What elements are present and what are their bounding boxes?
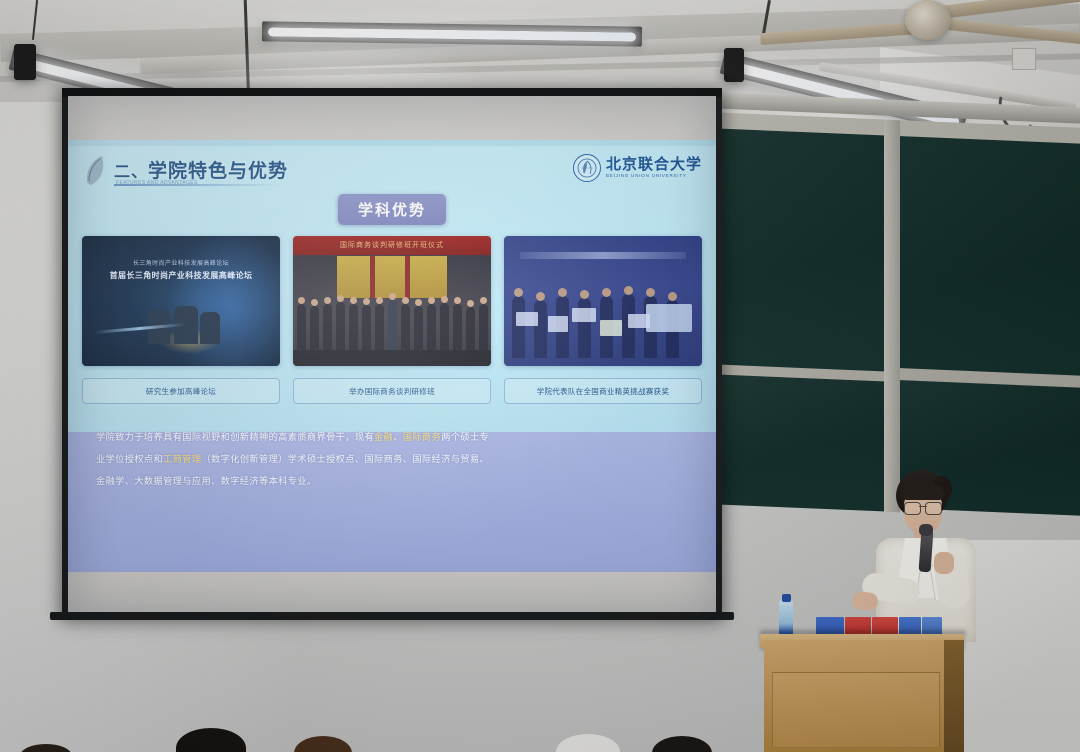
water-bottle-cap (782, 594, 791, 602)
slide-body-text: 学院致力于培养具有国际视野和创新精神的高素质商界骨干，现有金融、国际商务两个硕士… (96, 426, 692, 492)
body-highlight-intl-business: 国际商务 (403, 432, 441, 442)
photo-caption: 学院代表队在全国商业精英挑战赛获奖 (504, 378, 702, 404)
university-name-cn: 北京联合大学 (606, 157, 702, 172)
blackboard-panel (718, 128, 886, 371)
body-line2-part-a: 业学位授权点和 (96, 454, 163, 464)
body-highlight-finance: 金融 (374, 432, 393, 442)
university-seal-icon (573, 154, 601, 182)
presenter-fringe (902, 484, 944, 500)
photo-caption: 举办国际商务谈判研修班 (293, 378, 491, 404)
slide-title-subtitle: FEATURES AND ADVANTAGES (116, 180, 198, 186)
eyeglasses-icon (904, 502, 942, 513)
slide-section-number: 二、 (114, 164, 148, 181)
university-name-en: BEIJING UNION UNIVERSITY (606, 174, 702, 179)
slide-title-text: 学院特色与优势 (148, 161, 288, 182)
slide-photo-row: 长三角时尚产业科技发展高峰论坛 首届长三角时尚产业科技发展高峰论坛 国际商务谈判… (82, 236, 702, 366)
slide-photo-award (504, 236, 702, 366)
light-end-cap (14, 44, 36, 80)
university-logo: 北京联合大学 BEIJING UNION UNIVERSITY (573, 154, 702, 182)
blackboard-mullion (884, 120, 900, 513)
blackboard-panel (898, 136, 1080, 376)
body-line2-part-b: （数字化创新管理）学术硕士授权点、国际商务、国际经济与贸易、 (201, 454, 489, 464)
slide-body-line-1: 学院致力于培养具有国际视野和创新精神的高素质商界骨干，现有金融、国际商务两个硕士… (96, 426, 692, 448)
light-end-cap (724, 48, 744, 82)
photo-banner (520, 252, 686, 259)
screen-bottom-bar (50, 612, 734, 620)
body-line1-part-b: 两个硕士专 (441, 432, 489, 442)
slide-photo-forum: 长三角时尚产业科技发展高峰论坛 首届长三角时尚产业科技发展高峰论坛 (82, 236, 280, 366)
body-separator: 、 (393, 432, 403, 442)
body-highlight-management: 工商管理 (163, 454, 201, 464)
slide-photo-training: 国际商务谈判研修班开班仪式 (293, 236, 491, 366)
photo-overlay-line1: 长三角时尚产业科技发展高峰论坛 (82, 258, 280, 267)
photo-crowd (293, 288, 491, 350)
photo-overlay-line2: 首届长三角时尚产业科技发展高峰论坛 (82, 270, 280, 281)
junction-box (1012, 48, 1036, 70)
slide-caption-row: 研究生参加高峰论坛 举办国际商务谈判研修班 学院代表队在全国商业精英挑战赛获奖 (82, 378, 702, 404)
slide-section-badge: 学科优势 (338, 194, 446, 225)
slide-top-strip (68, 140, 716, 146)
microphone-head (919, 524, 933, 536)
slide-body-line-2: 业学位授权点和工商管理（数字化创新管理）学术硕士授权点、国际商务、国际经济与贸易… (96, 448, 692, 470)
photo-banner-text: 国际商务谈判研修班开班仪式 (293, 236, 491, 255)
projection-screen-surface: 二、学院特色与优势 FEATURES AND ADVANTAGES 北京联合大学… (68, 96, 716, 612)
presenter-hand-right (934, 552, 954, 574)
lecture-hall-photo: 二、学院特色与优势 FEATURES AND ADVANTAGES 北京联合大学… (0, 0, 1080, 752)
body-line1-part-a: 学院致力于培养具有国际视野和创新精神的高素质商界骨干，现有 (96, 432, 374, 442)
presentation-slide: 二、学院特色与优势 FEATURES AND ADVANTAGES 北京联合大学… (68, 140, 716, 572)
photo-caption: 研究生参加高峰论坛 (82, 378, 280, 404)
podium-side (944, 640, 964, 752)
feather-icon (82, 154, 108, 188)
podium-front-panel (772, 672, 940, 748)
slide-title: 二、学院特色与优势 (114, 156, 288, 183)
ceiling-fan-hub (905, 0, 951, 40)
photo-banner: 国际商务谈判研修班开班仪式 (293, 236, 491, 255)
slide-body-line-3: 金融学、大数据管理与应用、数字经济等本科专业。 (96, 470, 692, 492)
